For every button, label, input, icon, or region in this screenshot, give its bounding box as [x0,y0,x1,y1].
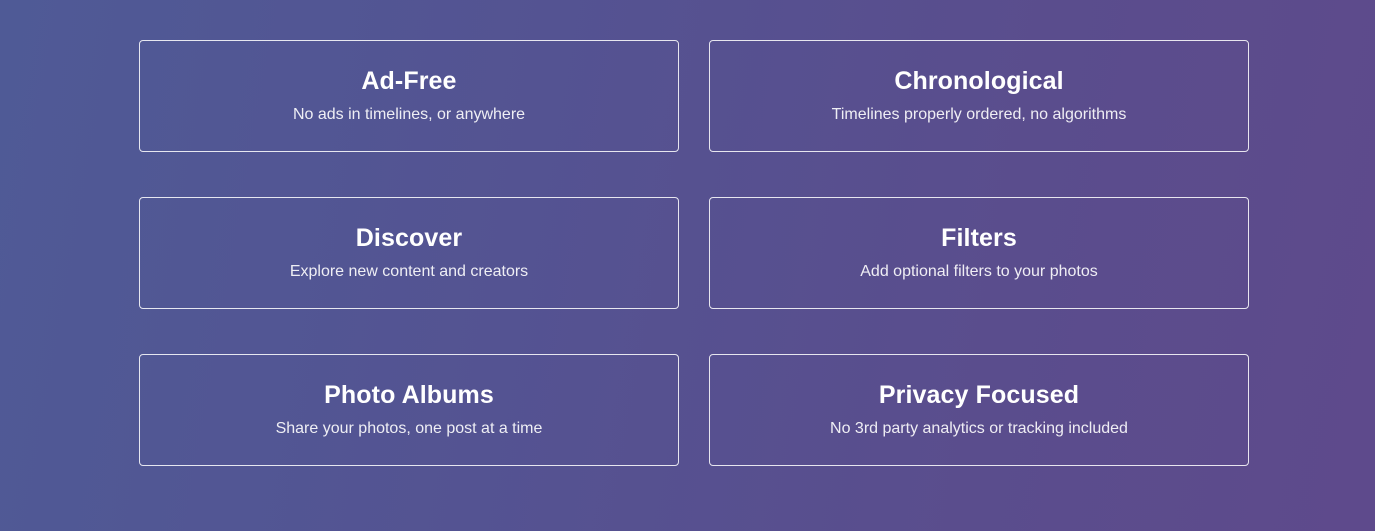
feature-subtitle: Add optional filters to your photos [860,262,1097,281]
feature-card-ad-free[interactable]: Ad-Free No ads in timelines, or anywhere [139,40,679,152]
feature-card-privacy-focused[interactable]: Privacy Focused No 3rd party analytics o… [709,354,1249,466]
feature-subtitle: No 3rd party analytics or tracking inclu… [830,419,1128,438]
feature-section: Ad-Free No ads in timelines, or anywhere… [0,0,1375,531]
feature-grid: Ad-Free No ads in timelines, or anywhere… [139,40,1248,466]
feature-card-discover[interactable]: Discover Explore new content and creator… [139,197,679,309]
feature-subtitle: Share your photos, one post at a time [276,419,543,438]
feature-subtitle: Timelines properly ordered, no algorithm… [832,105,1127,124]
feature-title: Chronological [894,68,1063,96]
feature-title: Discover [356,225,462,253]
feature-subtitle: No ads in timelines, or anywhere [293,105,525,124]
feature-title: Filters [941,225,1017,253]
feature-title: Photo Albums [324,382,494,410]
feature-card-filters[interactable]: Filters Add optional filters to your pho… [709,197,1249,309]
feature-card-chronological[interactable]: Chronological Timelines properly ordered… [709,40,1249,152]
feature-title: Ad-Free [361,68,456,96]
feature-card-photo-albums[interactable]: Photo Albums Share your photos, one post… [139,354,679,466]
feature-title: Privacy Focused [879,382,1079,410]
feature-subtitle: Explore new content and creators [290,262,528,281]
